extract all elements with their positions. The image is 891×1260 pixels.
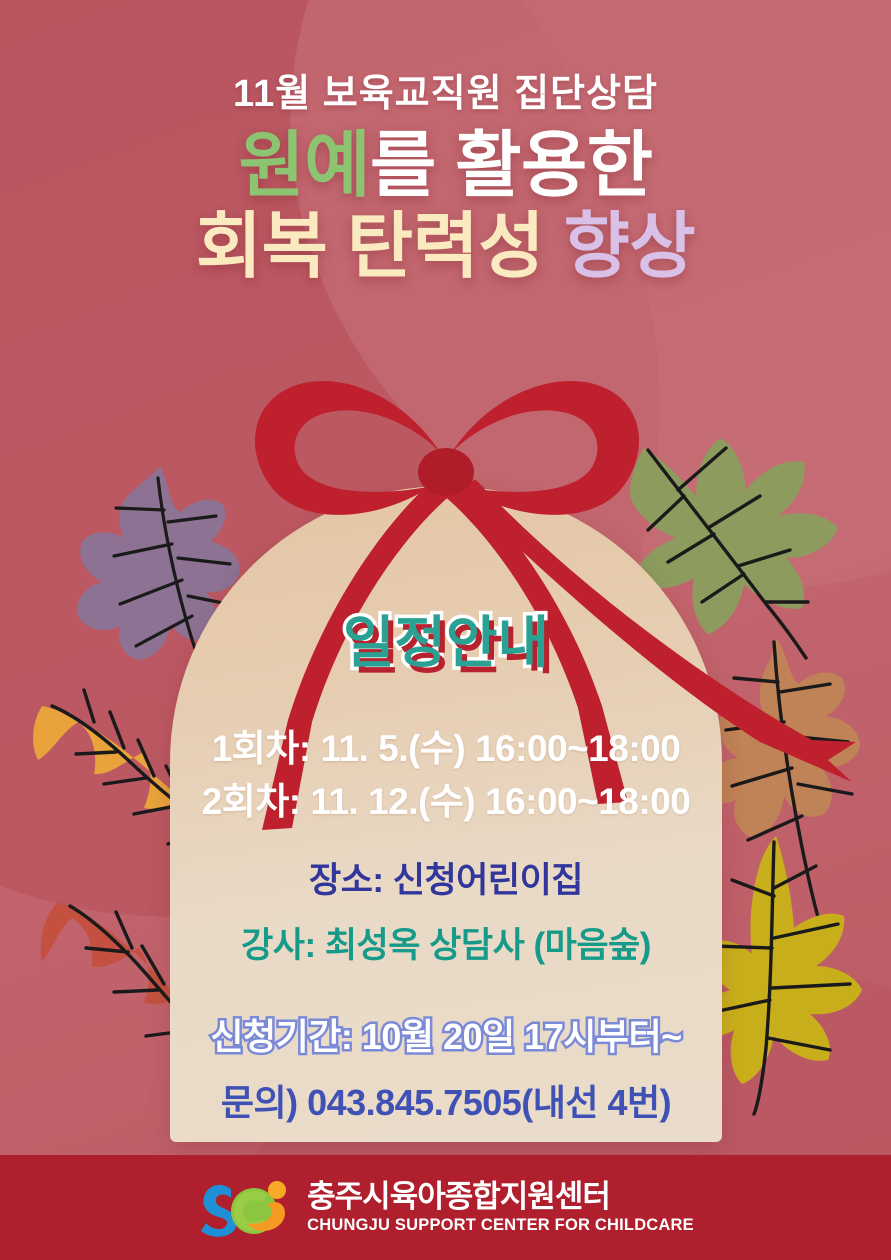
- poster-title-line-2: 회복 탄력성 향상: [0, 205, 891, 290]
- title-segment-lilac-2: 향상: [564, 207, 695, 287]
- poster-footer: 충주시육아종합지원센터 CHUNGJU SUPPORT CENTER FOR C…: [0, 1155, 891, 1260]
- title-segment-lilac: [544, 207, 564, 287]
- title-segment-cream: 회복 탄력성: [196, 207, 544, 287]
- poster-subtitle: 11월 보육교직원 집단상담: [0, 74, 891, 116]
- organization-name-en: CHUNGJU SUPPORT CENTER FOR CHILDCARE: [307, 1217, 694, 1234]
- organization-name-kr: 충주시육아종합지원센터: [307, 1181, 694, 1212]
- title-segment-white: 를 활용한: [370, 126, 652, 206]
- session-list: 1회차: 11. 5.(수) 16:00~18:00 2회차: 11. 12.(…: [170, 723, 722, 828]
- poster-header: 11월 보육교직원 집단상담 원예를 활용한 회복 탄력성 향상: [0, 74, 891, 290]
- organization-name-block: 충주시육아종합지원센터 CHUNGJU SUPPORT CENTER FOR C…: [307, 1181, 694, 1234]
- poster-canvas: 11월 보육교직원 집단상담 원예를 활용한 회복 탄력성 향상: [0, 0, 891, 1260]
- instructor-line: 강사: 최성옥 상담사 (마음숲): [170, 917, 722, 968]
- title-segment-green: 원예: [239, 126, 370, 206]
- application-period-line: 신청기간: 10월 20일 17시부터~: [170, 1008, 722, 1060]
- poster-title-line-1: 원예를 활용한: [0, 124, 891, 209]
- session-line-2: 2회차: 11. 12.(수) 16:00~18:00: [170, 776, 722, 829]
- schedule-heading: 일정안내: [170, 598, 722, 679]
- session-line-1: 1회차: 11. 5.(수) 16:00~18:00: [170, 723, 722, 776]
- schedule-card-content: 일정안내 1회차: 11. 5.(수) 16:00~18:00 2회차: 11.…: [170, 486, 722, 1142]
- venue-line: 장소: 신청어린이집: [170, 852, 722, 903]
- contact-line: 문의) 043.845.7505(내선 4번): [170, 1074, 722, 1126]
- organization-logo-icon: [197, 1177, 293, 1239]
